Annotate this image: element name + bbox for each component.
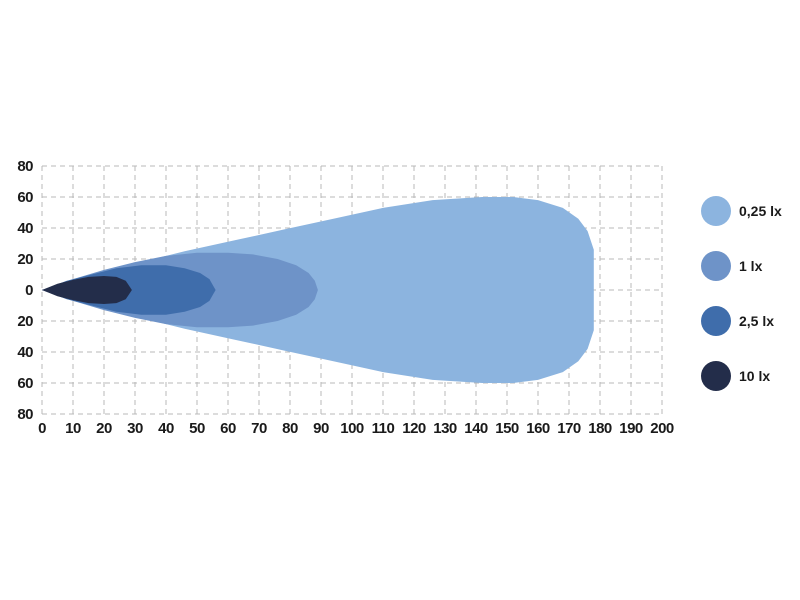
x-tick-label: 0 — [38, 420, 46, 437]
beam-shapes-layer — [42, 197, 594, 383]
legend-item[interactable]: 10 lx — [701, 361, 770, 391]
x-tick-label: 180 — [588, 420, 612, 437]
x-tick-label: 130 — [433, 420, 457, 437]
legend-item-label: 1 lx — [739, 258, 763, 274]
light-distribution-chart: 0102030405060708090100110120130140150160… — [0, 0, 800, 600]
legend-item[interactable]: 2,5 lx — [701, 306, 774, 336]
legend-item[interactable]: 0,25 lx — [701, 196, 782, 226]
x-tick-label: 200 — [650, 420, 674, 437]
x-tick-label: 80 — [282, 420, 298, 437]
x-tick-label: 170 — [557, 420, 581, 437]
legend-swatch-icon — [701, 196, 731, 226]
y-tick-label: 80 — [17, 158, 33, 175]
legend-item-label: 10 lx — [739, 368, 770, 384]
chart-canvas: 0102030405060708090100110120130140150160… — [0, 0, 800, 600]
y-tick-label: 0 — [25, 282, 33, 299]
y-tick-label: 20 — [17, 313, 33, 330]
x-tick-label: 90 — [313, 420, 329, 437]
x-tick-label: 120 — [402, 420, 426, 437]
legend-item-label: 0,25 lx — [739, 203, 782, 219]
y-tick-label: 80 — [17, 406, 33, 423]
legend-swatch-icon — [701, 251, 731, 281]
x-tick-label: 140 — [464, 420, 488, 437]
y-tick-label: 40 — [17, 220, 33, 237]
x-tick-label: 110 — [372, 420, 395, 437]
x-axis-tick-labels: 0102030405060708090100110120130140150160… — [38, 420, 674, 437]
x-tick-label: 10 — [65, 420, 81, 437]
y-axis-tick-labels: 80604020020406080 — [17, 158, 33, 423]
y-tick-label: 40 — [17, 344, 33, 361]
y-tick-label: 20 — [17, 251, 33, 268]
x-tick-label: 190 — [619, 420, 643, 437]
legend-item[interactable]: 1 lx — [701, 251, 763, 281]
legend: 0,25 lx1 lx2,5 lx10 lx — [701, 196, 782, 391]
legend-swatch-icon — [701, 361, 731, 391]
x-tick-label: 150 — [495, 420, 519, 437]
x-tick-label: 60 — [220, 420, 236, 437]
x-tick-label: 20 — [96, 420, 112, 437]
y-tick-label: 60 — [17, 375, 33, 392]
legend-swatch-icon — [701, 306, 731, 336]
legend-item-label: 2,5 lx — [739, 313, 774, 329]
y-tick-label: 60 — [17, 189, 33, 206]
beam-contour-10-lx — [42, 276, 132, 304]
x-tick-label: 160 — [526, 420, 550, 437]
x-tick-label: 50 — [189, 420, 205, 437]
x-tick-label: 40 — [158, 420, 174, 437]
x-tick-label: 30 — [127, 420, 143, 437]
x-tick-label: 70 — [251, 420, 267, 437]
x-tick-label: 100 — [340, 420, 364, 437]
